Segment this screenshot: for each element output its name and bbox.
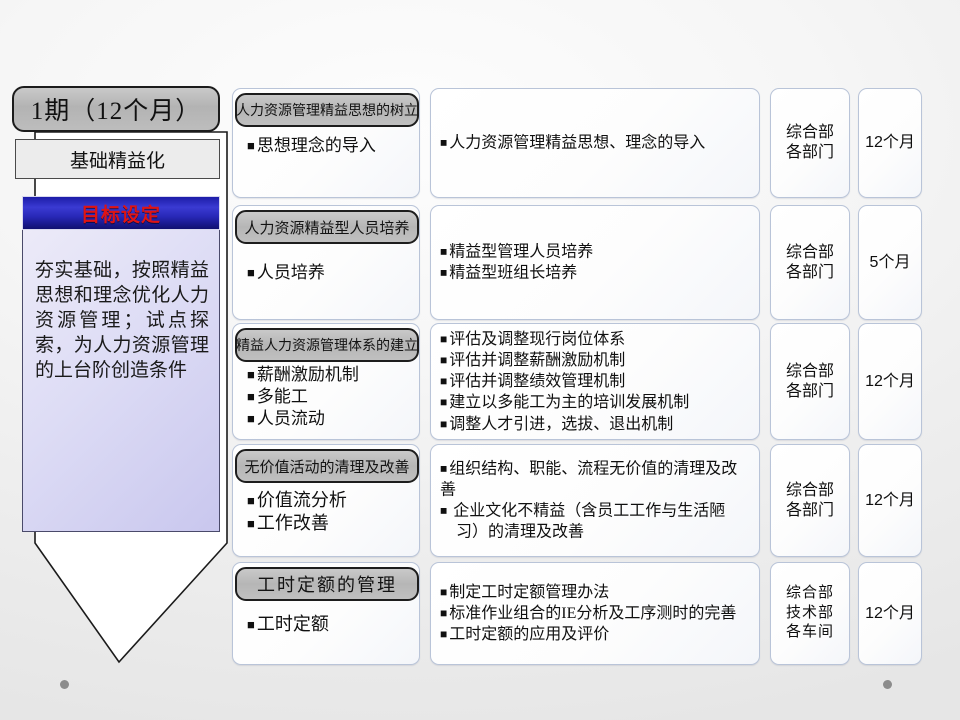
topic-pill: 精益人力资源管理体系的建立 xyxy=(235,328,419,362)
activity-card[interactable]: 评估及调整现行岗位体系 评估并调整薪酬激励机制 评估并调整绩效管理机制 建立以多… xyxy=(430,323,760,440)
activity-card[interactable]: 人力资源管理精益思想、理念的导入 xyxy=(430,88,760,198)
topic-pill: 人力资源精益型人员培养 xyxy=(235,210,419,244)
activity-item: 评估及调整现行岗位体系 xyxy=(440,328,751,349)
department-name: 综合部 xyxy=(786,584,834,604)
table-row: 人力资源管理精益思想的树立 思想理念的导入 人力资源管理精益思想、理念的导入 综… xyxy=(0,88,960,198)
department-name: 技术部 xyxy=(786,604,834,624)
department-list: 综合部 各部门 xyxy=(771,206,849,319)
duration-card[interactable]: 12个月 xyxy=(858,562,922,665)
activity-item-line1: 企业文化不精益（含员工工作与生活陋 xyxy=(453,503,725,520)
activity-list: 评估及调整现行岗位体系 评估并调整薪酬激励机制 评估并调整绩效管理机制 建立以多… xyxy=(440,328,751,434)
duration-value: 12个月 xyxy=(865,372,915,392)
duration-value: 12个月 xyxy=(865,604,915,624)
department-card[interactable]: 综合部 各部门 xyxy=(770,444,850,557)
table-row: 精益人力资源管理体系的建立 薪酬激励机制 多能工 人员流动 评估及调整现行岗位体… xyxy=(0,323,960,440)
topic-card[interactable]: 人力资源精益型人员培养 人员培养 xyxy=(232,205,420,320)
department-name: 综合部 xyxy=(786,481,834,501)
duration-card[interactable]: 12个月 xyxy=(858,444,922,557)
activity-card[interactable]: 制定工时定额管理办法 标准作业组合的IE分析及工序测时的完善 工时定额的应用及评… xyxy=(430,562,760,665)
duration-wrap: 12个月 xyxy=(859,445,921,556)
department-name: 综合部 xyxy=(786,243,834,263)
department-name: 各部门 xyxy=(786,263,834,283)
topic-bullet: 思想理念的导入 xyxy=(247,135,413,157)
department-name: 各部门 xyxy=(786,382,834,402)
activity-item: 精益型管理人员培养 xyxy=(440,241,751,262)
activity-item: 评估并调整薪酬激励机制 xyxy=(440,350,751,371)
activity-list: 人力资源管理精益思想、理念的导入 xyxy=(440,132,751,153)
activity-item: 组织结构、职能、流程无价值的清理及改善 xyxy=(440,458,751,501)
activity-item-line2: 习）的清理及改善 xyxy=(440,522,751,543)
topic-bullet-list: 思想理念的导入 xyxy=(247,135,413,157)
activity-item: 人力资源管理精益思想、理念的导入 xyxy=(440,132,751,153)
table-row: 人力资源精益型人员培养 人员培养 精益型管理人员培养 精益型班组长培养 综合部 … xyxy=(0,205,960,320)
topic-bullet: 多能工 xyxy=(247,386,413,408)
duration-value: 12个月 xyxy=(865,491,915,511)
duration-card[interactable]: 5个月 xyxy=(858,205,922,320)
topic-pill: 工时定额的管理 xyxy=(235,567,419,601)
activity-item: 精益型班组长培养 xyxy=(440,263,751,284)
topic-card[interactable]: 工时定额的管理 工时定额 xyxy=(232,562,420,665)
topic-bullet-list: 价值流分析 工作改善 xyxy=(247,489,413,536)
table-row: 无价值活动的清理及改善 价值流分析 工作改善 组织结构、职能、流程无价值的清理及… xyxy=(0,444,960,557)
department-list: 综合部 各部门 xyxy=(771,89,849,197)
decorative-dot-right xyxy=(883,680,892,689)
activity-item: 企业文化不精益（含员工工作与生活陋 习）的清理及改善 xyxy=(440,501,751,544)
topic-bullet-list: 工时定额 xyxy=(247,613,413,636)
topic-bullet-list: 薪酬激励机制 多能工 人员流动 xyxy=(247,364,413,430)
department-name: 各部门 xyxy=(786,501,834,521)
duration-value: 12个月 xyxy=(865,133,915,153)
activity-item: 评估并调整绩效管理机制 xyxy=(440,371,751,392)
department-card[interactable]: 综合部 各部门 xyxy=(770,323,850,440)
decorative-dot-left xyxy=(60,680,69,689)
activity-card[interactable]: 组织结构、职能、流程无价值的清理及改善 企业文化不精益（含员工工作与生活陋 习）… xyxy=(430,444,760,557)
duration-wrap: 12个月 xyxy=(859,324,921,439)
department-card[interactable]: 综合部 各部门 xyxy=(770,205,850,320)
duration-wrap: 5个月 xyxy=(859,206,921,319)
topic-bullet: 人员培养 xyxy=(247,262,413,284)
slide-canvas: 1期（12个月） 基础精益化 目标设定 夯实基础，按照精益思想和理念优化人力资源… xyxy=(0,0,960,720)
activity-item: 调整人才引进，选拔、退出机制 xyxy=(440,413,751,434)
department-card[interactable]: 综合部 技术部 各车间 xyxy=(770,562,850,665)
activity-item: 工时定额的应用及评价 xyxy=(440,624,751,645)
department-name: 综合部 xyxy=(786,123,834,143)
topic-label: 人力资源精益型人员培养 xyxy=(244,217,409,238)
activity-item: 制定工时定额管理办法 xyxy=(440,582,751,603)
activity-card[interactable]: 精益型管理人员培养 精益型班组长培养 xyxy=(430,205,760,320)
topic-label: 无价值活动的清理及改善 xyxy=(244,456,409,477)
department-list: 综合部 技术部 各车间 xyxy=(771,563,849,664)
topic-label: 工时定额的管理 xyxy=(257,571,397,597)
activity-list: 精益型管理人员培养 精益型班组长培养 xyxy=(440,241,751,284)
activity-list: 制定工时定额管理办法 标准作业组合的IE分析及工序测时的完善 工时定额的应用及评… xyxy=(440,582,751,646)
topic-bullet: 价值流分析 xyxy=(247,489,413,512)
activity-item: 标准作业组合的IE分析及工序测时的完善 xyxy=(440,603,751,624)
duration-wrap: 12个月 xyxy=(859,563,921,664)
duration-card[interactable]: 12个月 xyxy=(858,323,922,440)
topic-bullet: 工作改善 xyxy=(247,512,413,535)
duration-value: 5个月 xyxy=(870,253,911,273)
activity-item: 建立以多能工为主的培训发展机制 xyxy=(440,392,751,413)
department-name: 各车间 xyxy=(786,623,834,643)
department-card[interactable]: 综合部 各部门 xyxy=(770,88,850,198)
department-list: 综合部 各部门 xyxy=(771,445,849,556)
topic-bullet: 薪酬激励机制 xyxy=(247,364,413,386)
topic-card[interactable]: 无价值活动的清理及改善 价值流分析 工作改善 xyxy=(232,444,420,557)
topic-bullet-list: 人员培养 xyxy=(247,262,413,284)
topic-label: 人力资源管理精益思想的树立 xyxy=(236,100,418,120)
activity-list: 组织结构、职能、流程无价值的清理及改善 企业文化不精益（含员工工作与生活陋 习）… xyxy=(440,458,751,543)
duration-wrap: 12个月 xyxy=(859,89,921,197)
topic-bullet: 工时定额 xyxy=(247,613,413,636)
topic-pill: 无价值活动的清理及改善 xyxy=(235,449,419,483)
topic-card[interactable]: 人力资源管理精益思想的树立 思想理念的导入 xyxy=(232,88,420,198)
department-name: 各部门 xyxy=(786,143,834,163)
topic-pill: 人力资源管理精益思想的树立 xyxy=(235,93,419,127)
table-row: 工时定额的管理 工时定额 制定工时定额管理办法 标准作业组合的IE分析及工序测时… xyxy=(0,562,960,665)
topic-label: 精益人力资源管理体系的建立 xyxy=(236,335,418,355)
department-name: 综合部 xyxy=(786,362,834,382)
department-list: 综合部 各部门 xyxy=(771,324,849,439)
topic-card[interactable]: 精益人力资源管理体系的建立 薪酬激励机制 多能工 人员流动 xyxy=(232,323,420,440)
topic-bullet: 人员流动 xyxy=(247,408,413,430)
duration-card[interactable]: 12个月 xyxy=(858,88,922,198)
